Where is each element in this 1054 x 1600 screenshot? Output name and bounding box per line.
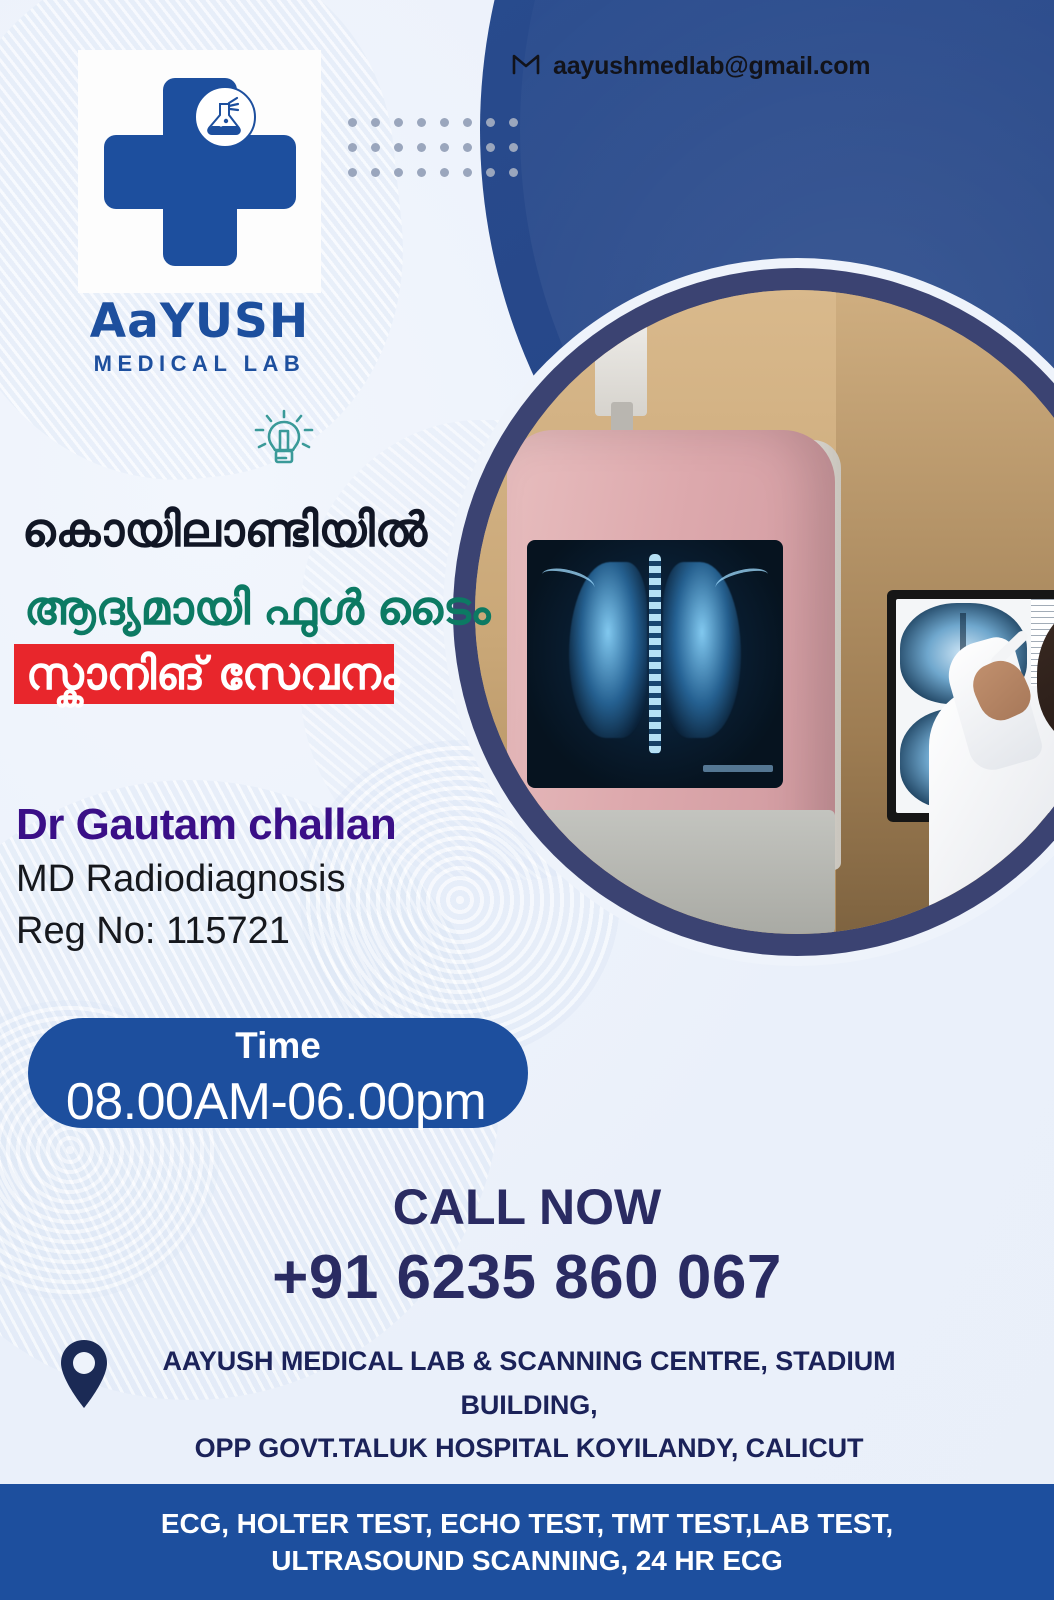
gmail-icon — [512, 53, 540, 80]
grid-dot — [463, 143, 472, 152]
timing-label: Time — [28, 1025, 528, 1067]
doctor-figure — [929, 586, 1054, 934]
doctor-hand — [966, 653, 1037, 727]
xray-display-screen — [527, 540, 783, 788]
grid-dot — [348, 118, 357, 127]
grid-dot — [348, 168, 357, 177]
logo-card — [78, 50, 321, 293]
call-now-label: CALL NOW — [0, 1178, 1054, 1236]
doctor-name: Dr Gautam challan — [16, 800, 396, 850]
xray-spine — [649, 554, 661, 754]
grid-dot — [371, 118, 380, 127]
poster-root: AaYUSH MEDICAL LAB aa — [0, 0, 1054, 1600]
grid-dot — [417, 143, 426, 152]
email-address-text: aayushmedlab@gmail.com — [553, 52, 870, 81]
grid-dot — [394, 168, 403, 177]
services-line-2: ULTRASOUND SCANNING, 24 HR ECG — [271, 1545, 782, 1577]
doctor-qualification: MD Radiodiagnosis — [16, 858, 346, 901]
grid-dot — [394, 143, 403, 152]
decorative-dot-grid — [348, 118, 532, 193]
grid-dot — [463, 168, 472, 177]
grid-dot — [509, 118, 518, 127]
scanning-room-photo — [475, 290, 1054, 934]
phone-number[interactable]: +91 6235 860 067 — [0, 1242, 1054, 1313]
address-line-2: OPP GOVT.TALUK HOSPITAL KOYILANDY, CALIC… — [124, 1427, 934, 1471]
grid-dot — [440, 168, 449, 177]
grid-dot — [486, 143, 495, 152]
email-contact[interactable]: aayushmedlab@gmail.com — [512, 52, 870, 81]
grid-dot — [440, 118, 449, 127]
grid-dot — [486, 118, 495, 127]
headline-line-1: കൊയിലാണ്ടിയിൽ — [22, 502, 427, 559]
grid-dot — [371, 143, 380, 152]
flask-icon — [194, 86, 256, 148]
services-line-1: ECG, HOLTER TEST, ECHO TEST, TMT TEST,LA… — [161, 1508, 893, 1540]
scanner-base — [515, 810, 835, 934]
headline-line-3: സ്കാനിങ് സേവനം — [26, 648, 400, 701]
grid-dot — [348, 143, 357, 152]
grid-dot — [371, 168, 380, 177]
grid-dot — [486, 168, 495, 177]
address-line-1: AAYUSH MEDICAL LAB & SCANNING CENTRE, ST… — [124, 1340, 934, 1427]
doctor-registration: Reg No: 115721 — [16, 910, 290, 953]
timing-value: 08.00AM-06.00pm — [16, 1072, 536, 1132]
location-pin-icon — [56, 1336, 112, 1412]
services-footer-bar: ECG, HOLTER TEST, ECHO TEST, TMT TEST,LA… — [0, 1484, 1054, 1600]
logo-brand-name: AaYUSH — [78, 294, 321, 349]
grid-dot — [509, 168, 518, 177]
grid-dot — [440, 143, 449, 152]
grid-dot — [463, 118, 472, 127]
lightbulb-icon — [248, 404, 320, 476]
xray-label-tag — [703, 765, 773, 772]
headline-line-2: ആദ്യമായി ഫുൾ ടൈം — [24, 580, 490, 637]
logo-brand-subtitle: MEDICAL LAB — [78, 351, 321, 377]
address-block: AAYUSH MEDICAL LAB & SCANNING CENTRE, ST… — [124, 1340, 934, 1471]
grid-dot — [394, 118, 403, 127]
grid-dot — [417, 168, 426, 177]
grid-dot — [509, 143, 518, 152]
grid-dot — [417, 118, 426, 127]
photo-scene — [475, 290, 1054, 934]
